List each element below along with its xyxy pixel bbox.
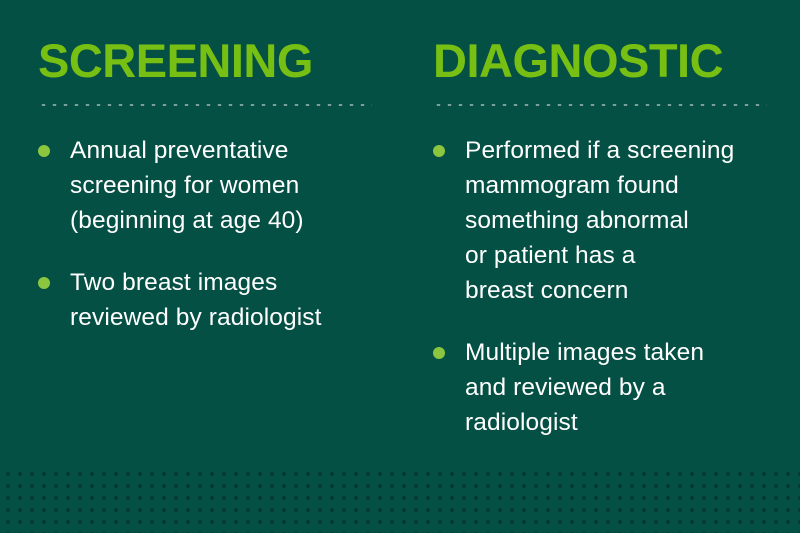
bullet-list-screening: Annual preventative screening for women … (38, 133, 400, 335)
dot-pattern-band (0, 465, 800, 533)
bullet-text: Performed if a screening mammogram found… (465, 133, 800, 308)
list-item: Annual preventative screening for women … (38, 133, 400, 238)
comparison-columns: SCREENING Annual preventative screening … (0, 0, 800, 465)
list-item: Two breast images reviewed by radiologis… (38, 265, 400, 335)
heading-diagnostic: DIAGNOSTIC (433, 0, 800, 85)
bullet-text: Annual preventative screening for women … (70, 133, 400, 238)
bullet-dot-icon (433, 347, 445, 359)
bullet-list-diagnostic: Performed if a screening mammogram found… (433, 133, 800, 440)
bullet-text: Multiple images taken and reviewed by a … (465, 335, 800, 440)
list-item: Performed if a screening mammogram found… (433, 133, 800, 308)
bullet-dot-icon (433, 145, 445, 157)
bullet-text: Two breast images reviewed by radiologis… (70, 265, 400, 335)
list-item: Multiple images taken and reviewed by a … (433, 335, 800, 440)
mammogram-comparison-infographic: SCREENING Annual preventative screening … (0, 0, 800, 533)
dotted-divider-left (38, 103, 372, 107)
bullet-dot-icon (38, 277, 50, 289)
column-screening: SCREENING Annual preventative screening … (0, 0, 400, 465)
heading-screening: SCREENING (38, 0, 400, 85)
column-diagnostic: DIAGNOSTIC Performed if a screening mamm… (400, 0, 800, 465)
dotted-divider-right (433, 103, 767, 107)
bullet-dot-icon (38, 145, 50, 157)
